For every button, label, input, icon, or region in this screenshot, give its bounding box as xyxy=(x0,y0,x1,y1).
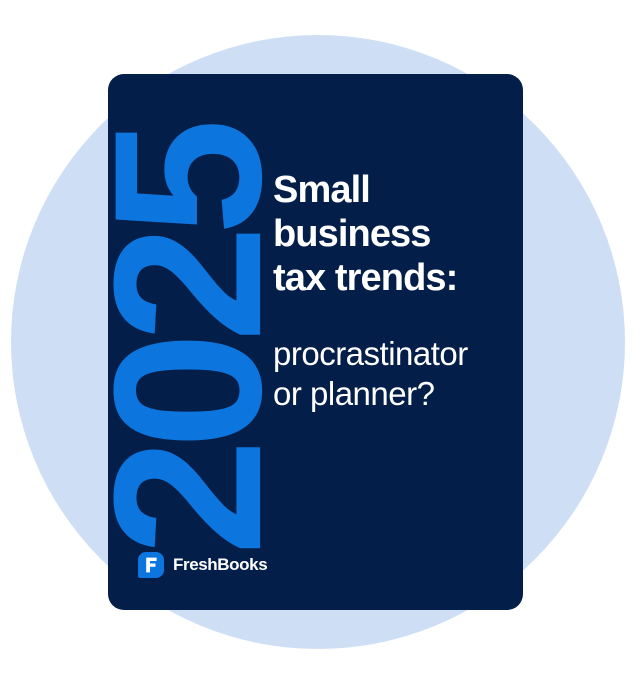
year-banner: 2025 xyxy=(108,74,268,610)
ebook-cover-scene: 2025 Small business tax trends: procrast… xyxy=(0,0,640,684)
cover-text-block: Small business tax trends: procrastinato… xyxy=(273,168,508,413)
headline-line-1: Small xyxy=(273,169,370,211)
headline-line-2: business xyxy=(273,213,431,255)
cover-headline: Small business tax trends: xyxy=(273,168,508,300)
subhead-line-1: procrastinator xyxy=(273,335,468,372)
year-label: 2025 xyxy=(108,128,270,555)
freshbooks-logo-icon xyxy=(138,552,164,578)
headline-line-3: tax trends: xyxy=(273,257,457,299)
cover-subheadline: procrastinator or planner? xyxy=(273,334,508,413)
freshbooks-logo-lockup[interactable]: FreshBooks xyxy=(138,552,267,578)
subhead-line-2: or planner? xyxy=(273,375,434,412)
freshbooks-wordmark: FreshBooks xyxy=(173,555,267,575)
ebook-cover-card[interactable]: 2025 Small business tax trends: procrast… xyxy=(108,74,523,610)
